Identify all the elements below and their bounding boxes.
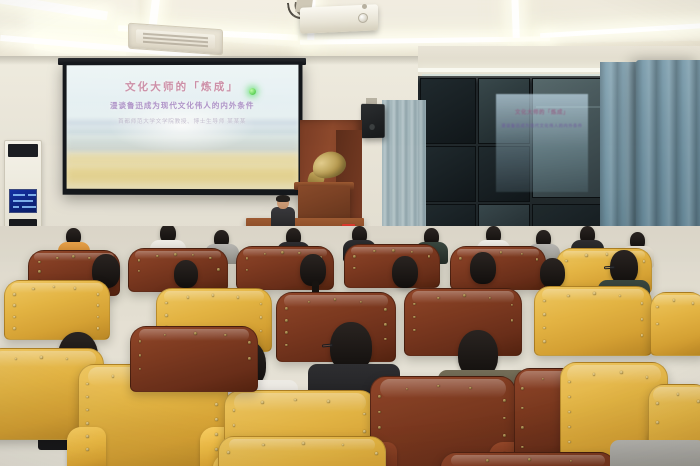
ceiling-sensor <box>362 4 367 9</box>
ceiling-projector <box>300 4 378 33</box>
projection-screen: 文化大师的「炼成」 漫谈鲁迅成为现代文化伟人的内外条件 首都师范大学文学院教授、… <box>63 62 303 196</box>
attendee-head <box>540 258 565 288</box>
chair-yellow <box>4 280 110 340</box>
gramophone-horn-sculpture <box>306 152 346 186</box>
slide-byline: 首都师范大学文学院教授、博士生导师 某某某 <box>67 117 299 125</box>
speaker-driver-icon <box>369 124 374 130</box>
chair-yellow <box>650 292 700 356</box>
chair-brown <box>440 452 616 466</box>
window-pane <box>420 78 476 144</box>
chair-yellow <box>534 286 652 356</box>
lcd-display <box>9 189 37 213</box>
vent-grille <box>136 29 215 49</box>
projector-lens-icon <box>358 13 368 23</box>
attendee-head <box>174 260 198 288</box>
slide-subtitle: 漫谈鲁迅成为现代文化伟人的内外条件 <box>67 100 299 111</box>
status-led-icon <box>249 88 256 95</box>
panel-header <box>8 144 38 157</box>
reflection-subtitle: 漫谈鲁迅成为现代文化伟人的内外条件 <box>496 123 588 129</box>
wall-mounted-speaker <box>361 104 385 138</box>
audience-seating <box>0 226 700 466</box>
attendee-torso <box>610 440 700 466</box>
led-light-strip <box>511 0 520 38</box>
attendee-head <box>470 252 496 284</box>
attendee-head <box>392 256 418 288</box>
chair-brown <box>130 326 258 392</box>
screen-surface: 文化大师的「炼成」 漫谈鲁迅成为现代文化伟人的内外条件 首都师范大学文学院教授、… <box>67 65 299 190</box>
chair-yellow <box>218 436 386 466</box>
reflection-title: 文化大师的「炼成」 <box>496 108 588 116</box>
slide-title: 文化大师的「炼成」 <box>67 78 299 93</box>
lecture-hall-photo: 文化大师的「炼成」 漫谈鲁迅成为现代文化伟人的内外条件 文化大师的「炼成」 漫谈… <box>0 0 700 466</box>
screen-reflection: 文化大师的「炼成」 漫谈鲁迅成为现代文化伟人的内外条件 <box>496 94 588 192</box>
presenter <box>272 196 294 230</box>
window-pane <box>420 146 476 202</box>
chair-brown <box>450 246 546 290</box>
